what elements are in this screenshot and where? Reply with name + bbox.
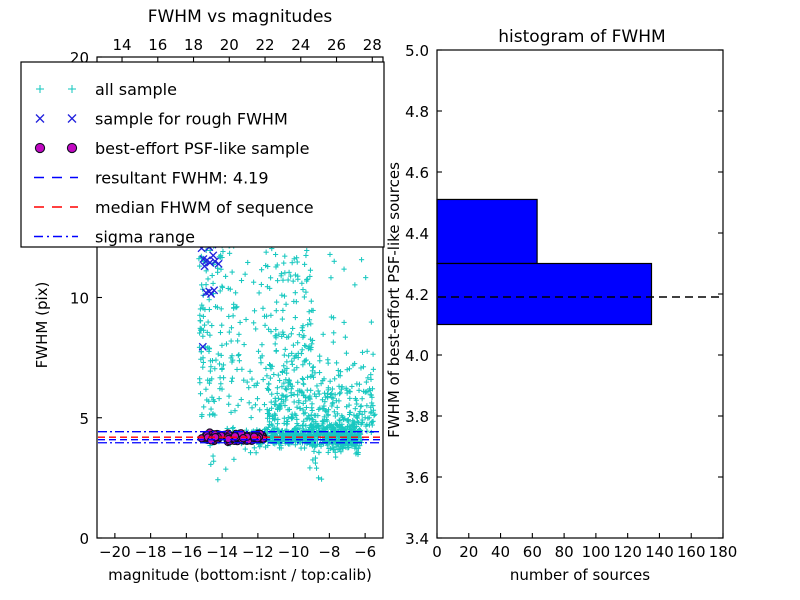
all-sample-point xyxy=(341,320,346,325)
x-tick-label: 160 xyxy=(677,543,706,561)
all-sample-point xyxy=(245,260,250,265)
all-sample-point xyxy=(254,450,259,455)
all-sample-point xyxy=(339,387,344,392)
all-sample-point xyxy=(282,270,287,275)
all-sample-point xyxy=(274,308,279,313)
all-sample-point xyxy=(257,407,262,412)
all-sample-point xyxy=(231,457,236,462)
all-sample-point xyxy=(226,314,231,319)
top-x-tick-label: 20 xyxy=(220,36,239,54)
all-sample-point xyxy=(305,322,310,327)
all-sample-point xyxy=(314,466,319,471)
all-sample-point xyxy=(317,391,322,396)
top-x-tick-label: 18 xyxy=(184,36,203,54)
all-sample-point xyxy=(223,467,228,472)
all-sample-point xyxy=(336,384,341,389)
all-sample-point xyxy=(207,307,212,312)
all-sample-point xyxy=(247,369,252,374)
all-sample-point xyxy=(308,321,313,326)
all-sample-point xyxy=(256,349,261,354)
all-sample-point xyxy=(291,299,296,304)
all-sample-point xyxy=(249,377,254,382)
all-sample-point xyxy=(271,372,276,377)
all-sample-point xyxy=(369,320,374,325)
all-sample-point xyxy=(262,402,267,407)
all-sample-point xyxy=(273,341,278,346)
all-sample-point xyxy=(203,387,208,392)
all-sample-point xyxy=(327,252,332,257)
all-sample-point xyxy=(275,391,280,396)
all-sample-point xyxy=(359,257,364,262)
all-sample-point xyxy=(227,251,232,256)
all-sample-point xyxy=(229,379,234,384)
top-x-tick-label: 22 xyxy=(255,36,274,54)
all-sample-point xyxy=(286,353,291,358)
all-sample-point xyxy=(239,367,244,372)
all-sample-point xyxy=(261,377,266,382)
all-sample-point xyxy=(273,252,278,257)
all-sample-point xyxy=(235,403,240,408)
all-sample-point xyxy=(219,323,224,328)
all-sample-point xyxy=(289,351,294,356)
all-sample-point xyxy=(248,450,253,455)
all-sample-point xyxy=(217,361,222,366)
histogram-bar xyxy=(437,264,652,325)
all-sample-point xyxy=(281,260,286,265)
legend-label: best-effort PSF-like sample xyxy=(95,139,309,158)
all-sample-point xyxy=(316,388,321,393)
all-sample-point xyxy=(329,395,334,400)
y-tick-label: 4.8 xyxy=(405,103,429,121)
all-sample-point xyxy=(201,404,206,409)
figure-canvas: FWHM vs magnitudes 1416182022242628 −20−… xyxy=(0,0,800,600)
all-sample-point xyxy=(279,293,284,298)
all-sample-point xyxy=(319,477,324,482)
all-sample-point xyxy=(303,290,308,295)
top-x-tick-label: 26 xyxy=(327,36,346,54)
all-sample-point xyxy=(335,405,340,410)
matplotlib-figure: FWHM vs magnitudes 1416182022242628 −20−… xyxy=(0,0,800,600)
x-tick-label: −14 xyxy=(206,543,238,561)
all-sample-point xyxy=(313,460,318,465)
histogram-bars xyxy=(437,199,652,324)
all-sample-point xyxy=(291,343,296,348)
all-sample-point xyxy=(260,306,265,311)
all-sample-point xyxy=(219,343,224,348)
all-sample-point xyxy=(235,338,240,343)
all-sample-point xyxy=(210,453,215,458)
top-x-tick-label: 28 xyxy=(363,36,382,54)
all-sample-point xyxy=(344,351,349,356)
all-sample-point xyxy=(273,327,278,332)
all-sample-point xyxy=(274,299,279,304)
histogram-xaxis-label: number of sources xyxy=(510,566,650,584)
all-sample-point xyxy=(368,372,373,377)
all-sample-point xyxy=(360,350,365,355)
histogram-y-ticklabels: 3.43.63.84.04.24.44.64.85.0 xyxy=(405,42,429,548)
y-tick-label: 4.0 xyxy=(405,347,429,365)
all-sample-point xyxy=(249,415,254,420)
all-sample-point xyxy=(237,320,242,325)
all-sample-point xyxy=(307,361,312,366)
all-sample-point xyxy=(290,326,295,331)
all-sample-point xyxy=(300,376,305,381)
x-tick-label: −12 xyxy=(242,543,274,561)
all-sample-point xyxy=(257,290,262,295)
y-tick-label: 10 xyxy=(70,290,89,308)
y-tick-label: 5.0 xyxy=(405,42,429,60)
all-sample-point xyxy=(361,364,366,369)
all-sample-point xyxy=(343,335,348,340)
all-sample-point xyxy=(334,360,339,365)
all-sample-point xyxy=(224,341,229,346)
all-sample-point xyxy=(347,396,352,401)
all-sample-point xyxy=(304,405,309,410)
all-sample-point xyxy=(263,366,268,371)
all-sample-point xyxy=(197,376,202,381)
scatter-top-axis-ticklabels: 1416182022242628 xyxy=(112,36,381,54)
histogram-yaxis-label: FWHM of best-effort PSF-like sources xyxy=(385,162,403,438)
all-sample-point xyxy=(284,359,289,364)
all-sample-point xyxy=(236,353,241,358)
x-tick-label: 40 xyxy=(491,543,510,561)
all-sample-point xyxy=(275,278,280,283)
all-sample-point xyxy=(369,400,374,405)
all-sample-point xyxy=(293,290,298,295)
legend-label: sigma range xyxy=(95,228,195,247)
x-tick-label: −10 xyxy=(278,543,310,561)
y-tick-label: 4.4 xyxy=(405,225,429,243)
all-sample-point xyxy=(358,365,363,370)
all-sample-point xyxy=(208,406,213,411)
all-sample-point xyxy=(349,384,354,389)
all-sample-point xyxy=(317,354,322,359)
all-sample-point xyxy=(305,375,310,380)
all-sample-point xyxy=(354,381,359,386)
all-sample-point xyxy=(202,322,207,327)
all-sample-point xyxy=(307,465,312,470)
all-sample-point xyxy=(201,314,206,319)
x-tick-label: 100 xyxy=(582,543,611,561)
all-sample-point xyxy=(338,390,343,395)
all-sample-point xyxy=(206,319,211,324)
all-sample-point xyxy=(273,399,278,404)
all-sample-point xyxy=(369,430,374,435)
scatter-xaxis-label: magnitude (bottom:isnt / top:calib) xyxy=(108,566,372,584)
all-sample-point xyxy=(302,343,307,348)
x-tick-label: 60 xyxy=(523,543,542,561)
x-tick-label: 180 xyxy=(709,543,738,561)
all-sample-point xyxy=(264,373,269,378)
all-sample-point xyxy=(249,405,254,410)
all-sample-point xyxy=(215,270,220,275)
all-sample-point xyxy=(266,381,271,386)
all-sample-point xyxy=(255,396,260,401)
all-sample-point xyxy=(198,391,203,396)
legend-label: all sample xyxy=(95,80,177,99)
histogram-bar xyxy=(437,199,537,263)
all-sample-point xyxy=(252,445,257,450)
rough-sample-point xyxy=(210,287,217,294)
all-sample-point xyxy=(300,287,305,292)
x-tick-label: 120 xyxy=(613,543,642,561)
all-sample-point xyxy=(321,332,326,337)
all-sample-point xyxy=(223,274,228,279)
all-sample-point xyxy=(308,388,313,393)
all-sample-point xyxy=(363,275,368,280)
all-sample-point xyxy=(253,402,258,407)
all-sample-point xyxy=(219,284,224,289)
all-sample-point xyxy=(301,401,306,406)
all-sample-point xyxy=(259,267,264,272)
all-sample-point xyxy=(294,255,299,260)
all-sample-point xyxy=(243,446,248,451)
all-sample-point xyxy=(311,449,316,454)
histogram-panel: histogram of FWHM 0204060801001201401601… xyxy=(385,27,737,584)
y-tick-label: 4.6 xyxy=(405,164,429,182)
all-sample-point xyxy=(316,450,321,455)
x-tick-label: −18 xyxy=(135,543,167,561)
all-sample-point xyxy=(239,397,244,402)
all-sample-point xyxy=(333,454,338,459)
scatter-yaxis-label: FWHM (pix) xyxy=(33,282,51,369)
all-sample-point xyxy=(282,416,287,421)
all-sample-point xyxy=(226,394,231,399)
all-sample-point xyxy=(300,347,305,352)
legend-label: median FHWM of sequence xyxy=(95,198,314,217)
all-sample-point xyxy=(236,352,241,357)
y-tick-label: 3.4 xyxy=(405,530,429,548)
all-sample-point xyxy=(231,313,236,318)
all-sample-point xyxy=(253,326,258,331)
all-sample-point xyxy=(360,396,365,401)
all-sample-point xyxy=(309,299,314,304)
all-sample-point xyxy=(295,380,300,385)
all-sample-point xyxy=(259,342,264,347)
all-sample-point xyxy=(269,399,274,404)
all-sample-point xyxy=(234,367,239,372)
all-sample-point xyxy=(277,378,282,383)
all-sample-point xyxy=(200,334,205,339)
rough-sample-point xyxy=(215,260,222,267)
all-sample-point xyxy=(337,391,342,396)
all-sample-point xyxy=(341,267,346,272)
x-tick-label: 0 xyxy=(432,543,442,561)
all-sample-point xyxy=(259,282,264,287)
all-sample-point xyxy=(242,342,247,347)
scatter-bottom-axis-ticklabels: −20−18−16−14−12−10−8−6 xyxy=(99,543,376,561)
x-tick-label: −6 xyxy=(354,543,376,561)
all-sample-point xyxy=(331,330,336,335)
x-tick-label: −8 xyxy=(318,543,340,561)
all-sample-point xyxy=(328,379,333,384)
all-sample-point xyxy=(331,340,336,345)
all-sample-point xyxy=(356,388,361,393)
all-sample-point xyxy=(353,406,358,411)
all-sample-point xyxy=(290,362,295,367)
legend-label: sample for rough FWHM xyxy=(95,110,288,129)
all-sample-point xyxy=(208,462,213,467)
all-sample-point xyxy=(239,278,244,283)
y-tick-label: 3.6 xyxy=(405,469,429,487)
all-sample-point xyxy=(200,365,205,370)
all-sample-point xyxy=(337,417,342,422)
y-tick-label: 3.8 xyxy=(405,408,429,426)
all-sample-point xyxy=(283,347,288,352)
all-sample-point xyxy=(325,357,330,362)
top-x-tick-label: 24 xyxy=(291,36,310,54)
all-sample-point xyxy=(198,318,203,323)
histogram-title: histogram of FWHM xyxy=(498,27,665,47)
all-sample-point xyxy=(308,268,313,273)
all-sample-point xyxy=(291,279,296,284)
all-sample-point xyxy=(297,332,302,337)
all-sample-point xyxy=(233,290,238,295)
all-sample-point xyxy=(304,248,309,253)
scatter-plot-title: FWHM vs magnitudes xyxy=(148,7,333,27)
y-tick-label: 4.2 xyxy=(405,286,429,304)
all-sample-point xyxy=(317,358,322,363)
rough-sample-point xyxy=(210,252,217,259)
all-sample-point xyxy=(332,259,337,264)
all-sample-point xyxy=(289,359,294,364)
all-sample-point xyxy=(262,323,267,328)
all-sample-point xyxy=(230,376,235,381)
all-sample-point xyxy=(218,381,223,386)
all-sample-point xyxy=(299,281,304,286)
all-sample-point xyxy=(229,338,234,343)
all-sample-point xyxy=(280,316,285,321)
all-sample-point xyxy=(201,360,206,365)
all-sample-point xyxy=(231,425,236,430)
all-sample-point xyxy=(215,477,220,482)
all-sample-point xyxy=(286,377,291,382)
all-sample-point xyxy=(330,386,335,391)
all-sample-point xyxy=(300,423,305,428)
all-sample-point xyxy=(311,364,316,369)
all-sample-point xyxy=(218,267,223,272)
all-sample-point xyxy=(286,277,291,282)
all-sample-point xyxy=(211,459,216,464)
all-sample-point xyxy=(292,399,297,404)
all-sample-point xyxy=(282,254,287,259)
all-sample-point xyxy=(302,294,307,299)
all-sample-point xyxy=(371,413,376,418)
all-sample-point xyxy=(205,276,210,281)
all-sample-point xyxy=(251,320,256,325)
all-sample-point xyxy=(243,317,248,322)
all-sample-point xyxy=(269,392,274,397)
all-sample-point xyxy=(352,282,357,287)
all-sample-point xyxy=(246,385,251,390)
all-sample-point xyxy=(221,375,226,380)
all-sample-point xyxy=(295,277,300,282)
all-sample-point xyxy=(303,253,308,258)
all-sample-point xyxy=(268,275,273,280)
all-sample-point xyxy=(322,391,327,396)
x-tick-label: −16 xyxy=(171,543,203,561)
all-sample-point xyxy=(197,263,202,268)
all-sample-point xyxy=(370,352,375,357)
all-sample-point xyxy=(272,402,277,407)
all-sample-point xyxy=(359,403,364,408)
all-sample-point xyxy=(328,275,333,280)
all-sample-point xyxy=(307,309,312,314)
all-sample-point xyxy=(268,376,273,381)
all-sample-point xyxy=(252,308,257,313)
all-sample-point xyxy=(276,372,281,377)
all-sample-point xyxy=(207,297,212,302)
all-sample-point xyxy=(371,367,376,372)
all-sample-point xyxy=(251,280,256,285)
circle-icon xyxy=(35,143,44,152)
psf-sample-point xyxy=(240,435,247,442)
all-sample-point xyxy=(226,402,231,407)
all-sample-point xyxy=(236,332,241,337)
all-sample-point xyxy=(268,313,273,318)
all-sample-point xyxy=(309,405,314,410)
all-sample-point xyxy=(275,385,280,390)
top-x-tick-label: 16 xyxy=(148,36,167,54)
all-sample-point xyxy=(282,353,287,358)
y-tick-label: 0 xyxy=(79,530,89,548)
histogram-x-ticklabels: 020406080100120140160180 xyxy=(432,543,737,561)
all-sample-point xyxy=(207,333,212,338)
all-sample-point xyxy=(280,308,285,313)
all-sample-point xyxy=(217,396,222,401)
all-sample-point xyxy=(293,315,298,320)
all-sample-point xyxy=(316,475,321,480)
all-sample-point xyxy=(258,360,263,365)
y-tick-label: 5 xyxy=(79,410,89,428)
all-sample-point xyxy=(213,357,218,362)
legend: all samplesample for rough FWHMbest-effo… xyxy=(21,62,384,247)
x-tick-label: 80 xyxy=(555,543,574,561)
all-sample-point xyxy=(302,262,307,267)
all-sample-point xyxy=(197,313,202,318)
all-sample-point xyxy=(199,282,204,287)
x-tick-label: 140 xyxy=(645,543,674,561)
all-sample-point xyxy=(282,293,287,298)
all-sample-point xyxy=(275,417,280,422)
all-sample-point xyxy=(362,409,367,414)
all-sample-point xyxy=(210,273,215,278)
all-sample-point xyxy=(365,349,370,354)
all-sample-point xyxy=(307,317,312,322)
all-sample-point xyxy=(237,358,242,363)
all-sample-point xyxy=(243,272,248,277)
top-x-tick-label: 14 xyxy=(112,36,131,54)
all-sample-point xyxy=(210,281,215,286)
all-sample-point xyxy=(317,370,322,375)
all-sample-point xyxy=(274,348,279,353)
circle-icon xyxy=(67,143,76,152)
all-sample-point xyxy=(300,328,305,333)
all-sample-point xyxy=(247,400,252,405)
all-sample-point xyxy=(218,330,223,335)
all-sample-point xyxy=(264,250,269,255)
all-sample-point xyxy=(283,302,288,307)
all-sample-point xyxy=(289,331,294,336)
all-sample-point xyxy=(230,269,235,274)
all-sample-point xyxy=(295,259,300,264)
all-sample-point xyxy=(208,368,213,373)
all-sample-point xyxy=(209,323,214,328)
all-sample-point xyxy=(295,340,300,345)
all-sample-point xyxy=(281,363,286,368)
x-tick-label: 20 xyxy=(459,543,478,561)
all-sample-point xyxy=(301,381,306,386)
